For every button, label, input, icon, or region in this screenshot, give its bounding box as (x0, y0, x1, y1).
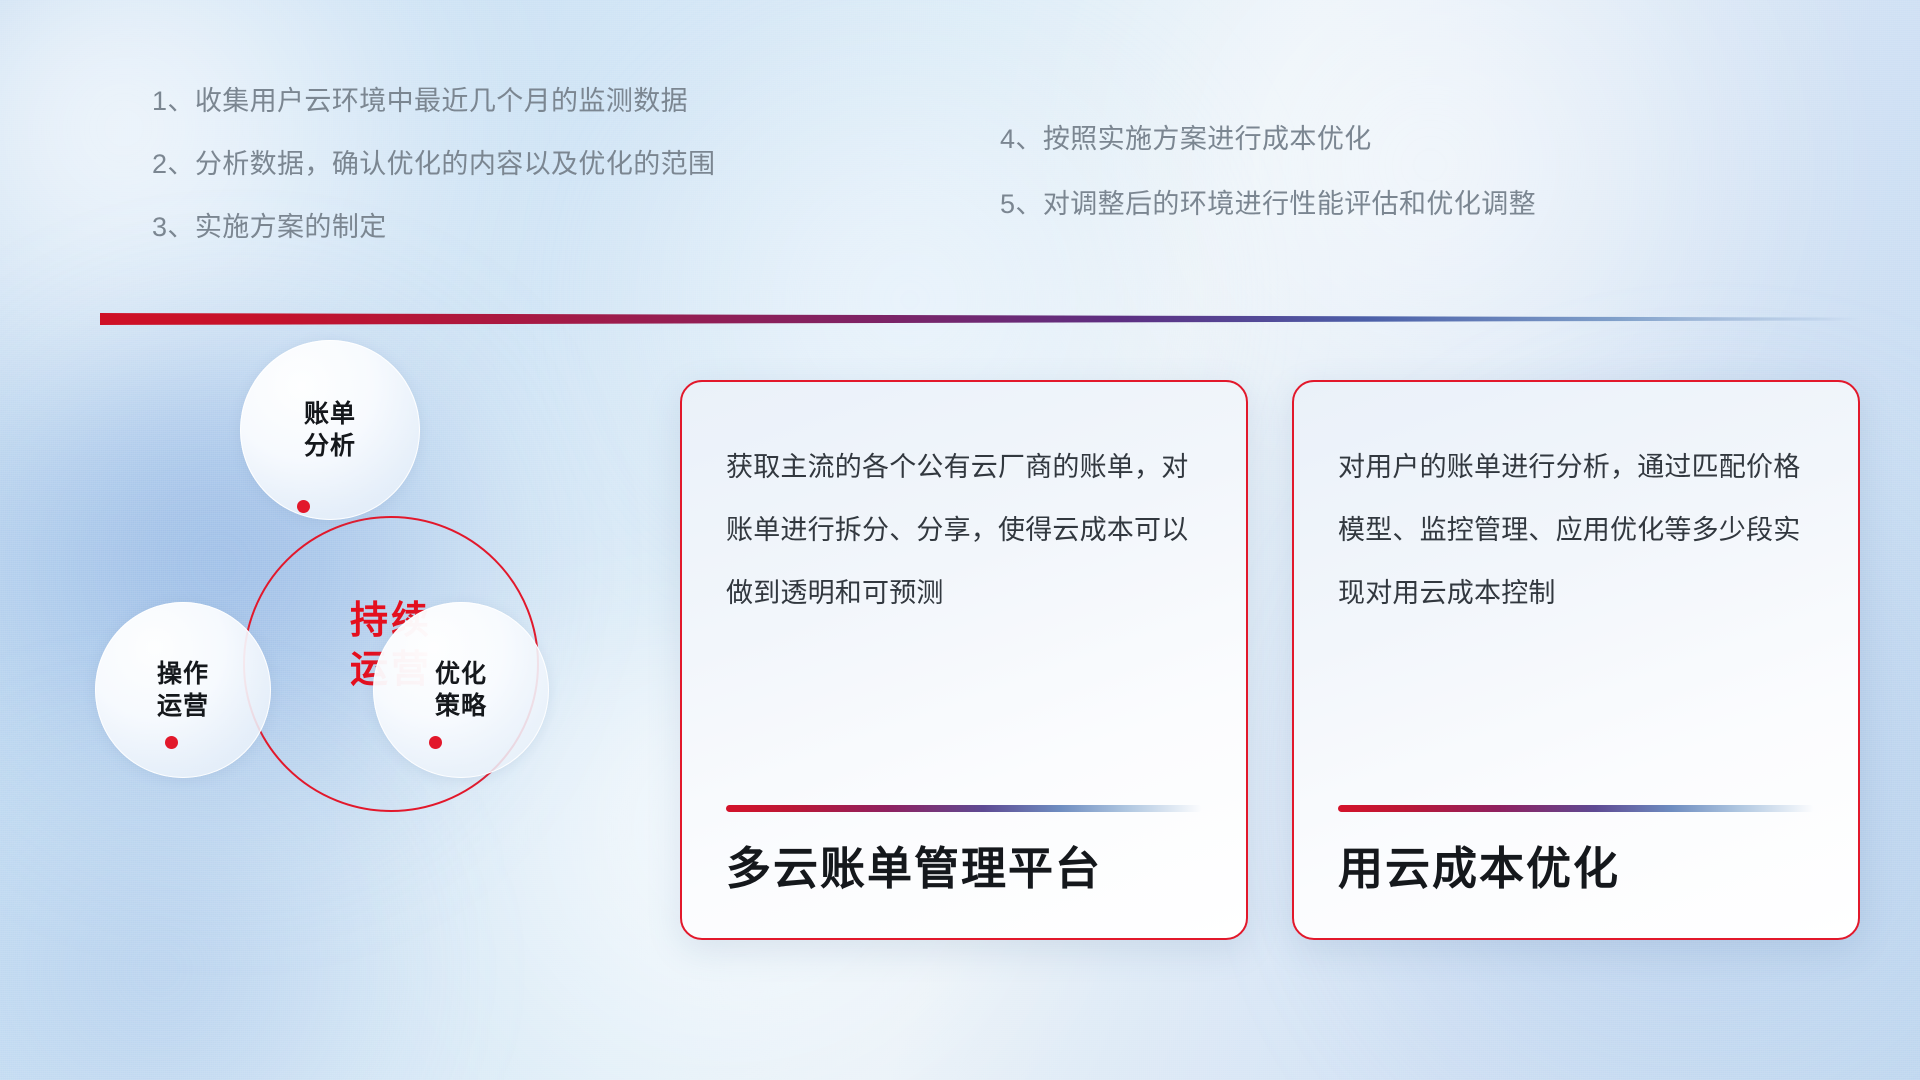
section-divider-bar (100, 313, 1860, 325)
card-body-text: 对用户的账单进行分析，通过匹配价格模型、监控管理、应用优化等多少段实现对用云成本… (1338, 436, 1814, 625)
venn-connector-dot-bottom-right (429, 736, 442, 749)
card-title: 多云账单管理平台 (726, 842, 1202, 896)
venn-node-label: 账单 分析 (304, 398, 356, 462)
venn-node-line-2: 策略 (435, 690, 487, 722)
steps-column-left: 1、收集用户云环境中最近几个月的监测数据 2、分析数据，确认优化的内容以及优化的… (152, 88, 852, 277)
card-divider (726, 805, 1202, 812)
card-divider (1338, 805, 1814, 812)
step-item-1: 1、收集用户云环境中最近几个月的监测数据 (152, 88, 852, 115)
section-divider (100, 313, 1860, 325)
venn-node-label: 操作 运营 (157, 658, 209, 722)
venn-node-line-1: 账单 (304, 398, 356, 430)
step-item-4: 4、按照实施方案进行成本优化 (1000, 126, 1760, 153)
step-item-2: 2、分析数据，确认优化的内容以及优化的范围 (152, 151, 852, 178)
steps-column-right: 4、按照实施方案进行成本优化 5、对调整后的环境进行性能评估和优化调整 (1000, 126, 1760, 256)
step-item-3: 3、实施方案的制定 (152, 214, 852, 241)
info-card-cloud-cost-optimization[interactable]: 对用户的账单进行分析，通过匹配价格模型、监控管理、应用优化等多少段实现对用云成本… (1292, 380, 1860, 940)
venn-diagram: 持续 运营 账单 分析 操作 运营 优化 策略 (95, 352, 615, 912)
card-title: 用云成本优化 (1338, 842, 1814, 896)
venn-node-label: 优化 策略 (435, 658, 487, 722)
info-card-multicloud-billing[interactable]: 获取主流的各个公有云厂商的账单，对账单进行拆分、分享，使得云成本可以做到透明和可… (680, 380, 1248, 940)
venn-node-optimization-strategy[interactable]: 优化 策略 (373, 602, 549, 778)
venn-node-line-2: 运营 (157, 690, 209, 722)
card-body-text: 获取主流的各个公有云厂商的账单，对账单进行拆分、分享，使得云成本可以做到透明和可… (726, 436, 1202, 625)
venn-node-line-2: 分析 (304, 430, 356, 462)
venn-connector-dot-top (297, 500, 310, 513)
venn-node-line-1: 操作 (157, 658, 209, 690)
venn-node-line-1: 优化 (435, 658, 487, 690)
step-item-5: 5、对调整后的环境进行性能评估和优化调整 (1000, 191, 1760, 218)
venn-node-bill-analysis[interactable]: 账单 分析 (240, 340, 420, 520)
venn-connector-dot-bottom-left (165, 736, 178, 749)
venn-node-operations[interactable]: 操作 运营 (95, 602, 271, 778)
